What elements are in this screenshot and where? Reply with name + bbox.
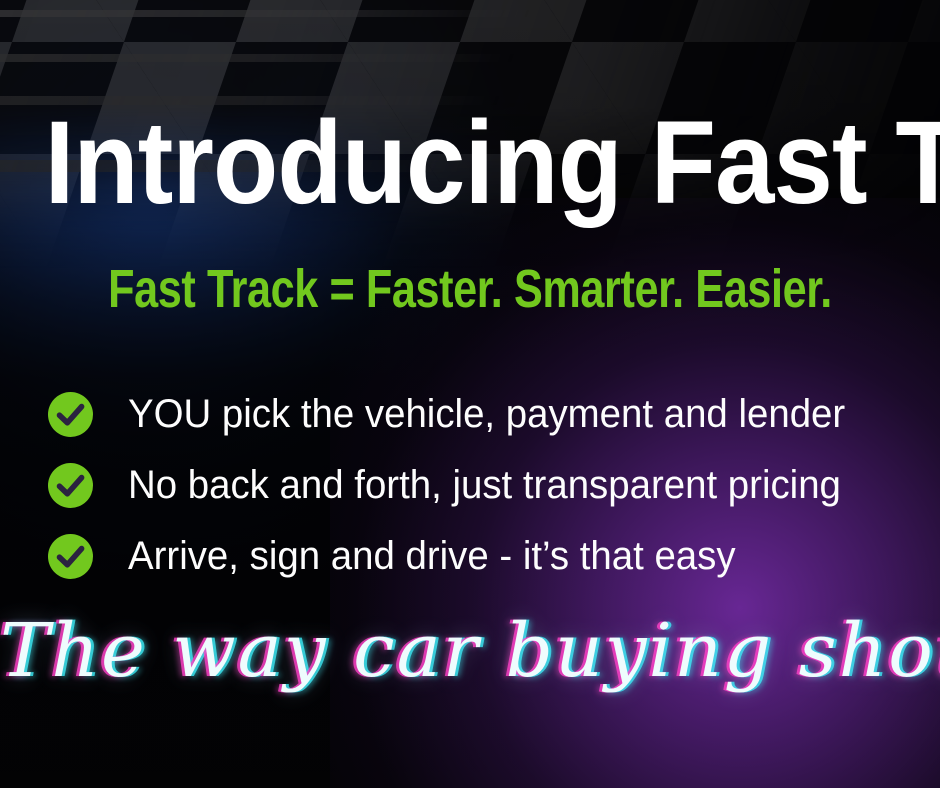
list-item: YOU pick the vehicle, payment and lender [48,379,908,449]
subheadline: Fast Track = Faster. Smarter. Easier. [94,262,846,316]
list-item: No back and forth, just transparent pric… [48,450,908,520]
check-circle-icon [48,534,93,579]
list-item-label: YOU pick the vehicle, payment and lender [128,394,845,434]
list-item-label: No back and forth, just transparent pric… [128,465,841,505]
check-circle-icon [48,463,93,508]
check-circle-icon [48,392,93,437]
headline: Introducing Fast Track [45,104,896,222]
list-item: Arrive, sign and drive - it’s that easy [48,521,908,591]
tagline: The way car buying should be. [0,614,940,688]
list-item-label: Arrive, sign and drive - it’s that easy [128,536,736,576]
poster-content: Introducing Fast Track Fast Track = Fast… [0,0,940,788]
benefits-list: YOU pick the vehicle, payment and lender… [48,379,908,592]
promo-poster: Introducing Fast Track Fast Track = Fast… [0,0,940,788]
